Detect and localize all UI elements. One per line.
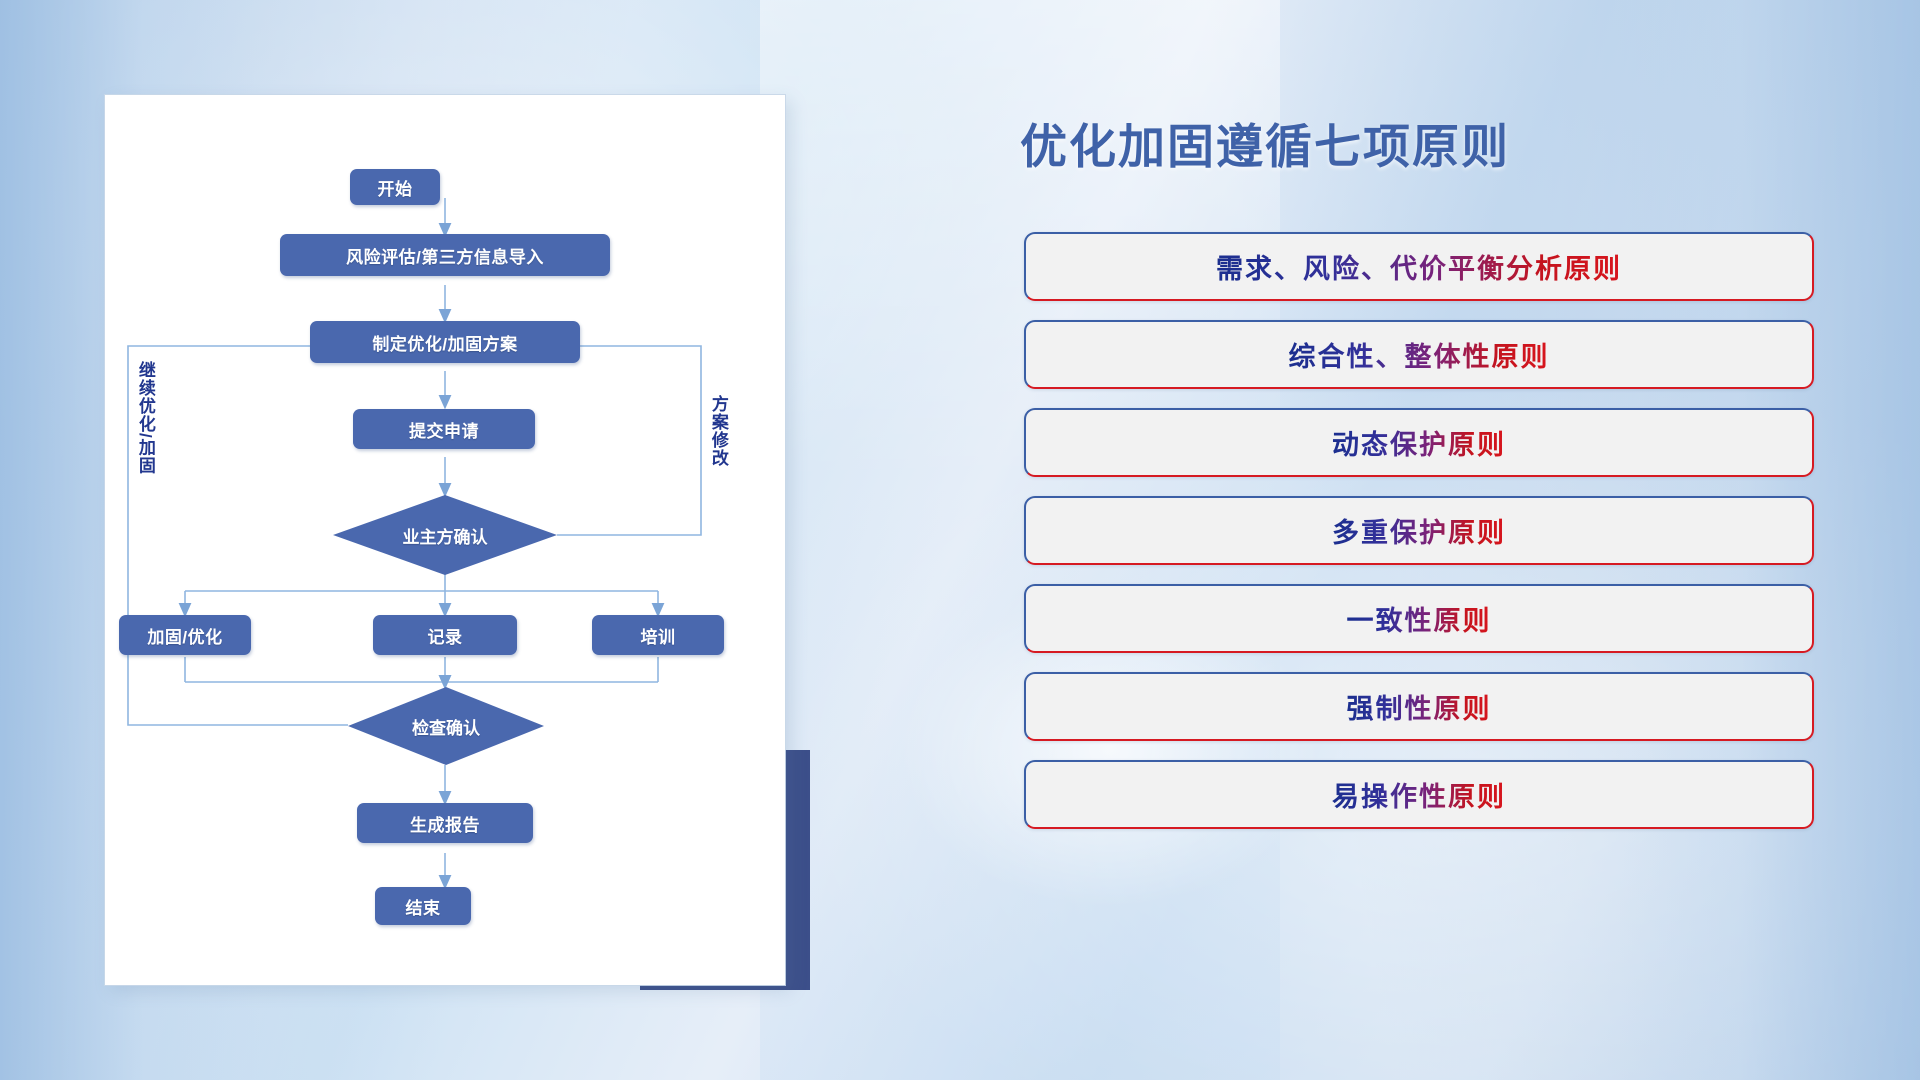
flow-node-training-label: 培训 [641,623,676,648]
principle-card[interactable]: 需求、风险、代价平衡分析原则 [1024,232,1814,301]
flow-node-record[interactable]: 记录 [373,615,517,655]
page-title: 优化加固遵循七项原则 [1020,108,1510,177]
flow-node-training[interactable]: 培训 [592,615,724,655]
principle-card-label: 易操作性原则 [1332,775,1506,814]
flow-node-end[interactable]: 结束 [375,887,471,925]
principle-card[interactable]: 易操作性原则 [1024,760,1814,829]
flow-node-plan-label: 制定优化/加固方案 [372,330,517,355]
principle-card-label: 强制性原则 [1347,687,1492,726]
principle-card-label: 需求、风险、代价平衡分析原则 [1216,247,1622,286]
flow-edge-label-right-loop: 方案修改 [709,395,727,467]
principle-card[interactable]: 强制性原则 [1024,672,1814,741]
flow-node-plan[interactable]: 制定优化/加固方案 [310,321,580,363]
flowchart-panel: 开始 风险评估/第三方信息导入 制定优化/加固方案 提交申请 业主方确认 加固/… [105,95,785,985]
principle-card-label: 综合性、整体性原则 [1289,335,1550,374]
principle-card[interactable]: 多重保护原则 [1024,496,1814,565]
flow-node-submit-application-label: 提交申请 [409,417,479,442]
principle-card[interactable]: 综合性、整体性原则 [1024,320,1814,389]
principle-card-label: 多重保护原则 [1332,511,1506,550]
flow-node-start-label: 开始 [378,175,413,200]
flow-decision-check-confirm[interactable]: 检查确认 [348,687,544,765]
flow-node-reinforce[interactable]: 加固/优化 [119,615,251,655]
flow-node-submit-application[interactable]: 提交申请 [353,409,535,449]
slide-canvas: 开始 风险评估/第三方信息导入 制定优化/加固方案 提交申请 业主方确认 加固/… [0,0,1920,1080]
flow-node-generate-report[interactable]: 生成报告 [357,803,533,843]
flow-decision-owner-confirm-label: 业主方确认 [403,523,488,548]
flow-decision-owner-confirm[interactable]: 业主方确认 [333,495,557,575]
principle-card-label: 一致性原则 [1347,599,1492,638]
flow-node-risk-assessment[interactable]: 风险评估/第三方信息导入 [280,234,610,276]
flow-node-start[interactable]: 开始 [350,169,440,205]
principle-card-label: 动态保护原则 [1332,423,1506,462]
principles-list: 需求、风险、代价平衡分析原则 综合性、整体性原则 动态保护原则 多重保护原则 一… [1024,232,1814,848]
principle-card[interactable]: 动态保护原则 [1024,408,1814,477]
flow-node-reinforce-label: 加固/优化 [147,623,222,648]
flow-decision-check-confirm-label: 检查确认 [412,714,480,739]
flow-edge-label-left-loop: 继续优化/加固 [136,361,154,475]
principle-card[interactable]: 一致性原则 [1024,584,1814,653]
flow-node-generate-report-label: 生成报告 [410,811,480,836]
flow-node-end-label: 结束 [406,894,441,919]
flow-node-risk-assessment-label: 风险评估/第三方信息导入 [346,243,544,268]
flow-node-record-label: 记录 [428,623,463,648]
